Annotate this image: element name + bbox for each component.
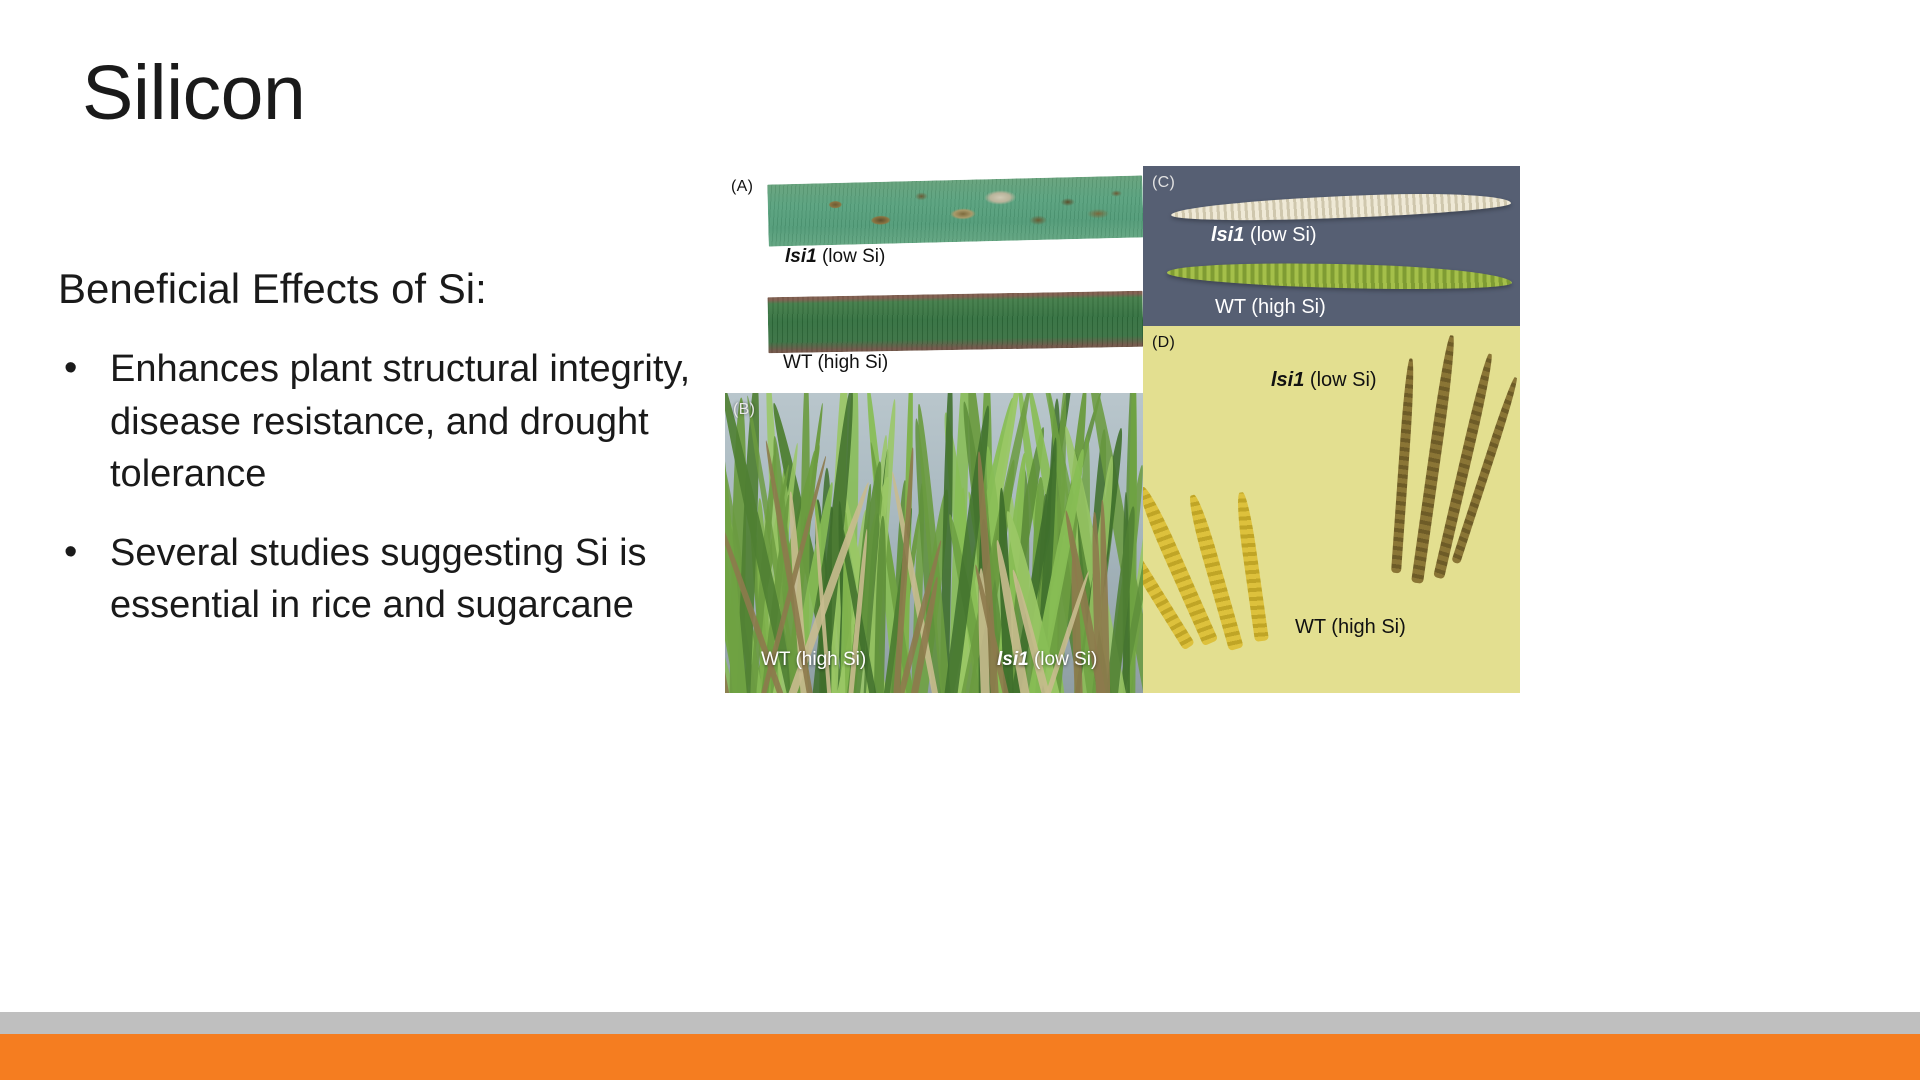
body-heading: Beneficial Effects of Si:	[58, 265, 718, 313]
condition-label: (low Si)	[1029, 649, 1098, 670]
genotype-label: lsi1	[997, 649, 1029, 670]
figure-panel-b: (B) WT (high Si) lsi1 (low Si)	[725, 393, 1143, 693]
genotype-label: lsi1	[1211, 224, 1244, 246]
bullet-marker-icon: •	[64, 342, 77, 394]
list-item: • Enhances plant structural integrity, d…	[58, 343, 718, 500]
diseased-leaf-image	[767, 175, 1143, 246]
panel-b-right-caption: lsi1 (low Si)	[997, 649, 1097, 671]
condition-label: (low Si)	[1244, 224, 1316, 246]
slide-canvas: Silicon Beneficial Effects of Si: • Enha…	[0, 0, 1920, 1080]
panel-c-top-caption: lsi1 (low Si)	[1211, 224, 1317, 247]
wt-panicle	[1234, 491, 1269, 641]
rice-field-photo	[725, 393, 1143, 693]
rice-silicon-figure: (A) lsi1 (low Si) WT (high Si) (B) WT (h…	[725, 166, 1520, 693]
bullet-list: • Enhances plant structural integrity, d…	[58, 343, 718, 631]
panel-b-left-caption: WT (high Si)	[761, 649, 866, 671]
figure-panel-a: (A) lsi1 (low Si) WT (high Si)	[725, 166, 1143, 388]
condition-label: (low Si)	[817, 246, 886, 267]
panel-a-diseased-caption: lsi1 (low Si)	[785, 246, 885, 268]
panel-d-top-caption: lsi1 (low Si)	[1271, 369, 1377, 392]
genotype-label: lsi1	[1271, 369, 1304, 391]
genotype-label: lsi1	[785, 246, 817, 267]
lsi1-panicle	[1391, 358, 1416, 573]
page-title: Silicon	[82, 55, 305, 132]
panel-a-healthy-caption: WT (high Si)	[783, 352, 888, 374]
figure-panel-c: (C) lsi1 (low Si) WT (high Si)	[1143, 166, 1520, 326]
panel-a-tag: (A)	[731, 178, 753, 196]
healthy-leaf-image	[768, 291, 1144, 354]
panel-b-tag: (B)	[733, 401, 755, 419]
figure-panel-d: (D) lsi1 (low Si) WT (high Si)	[1143, 326, 1520, 693]
bullet-marker-icon: •	[64, 526, 77, 578]
footer-gray-bar	[0, 1012, 1920, 1034]
bleached-panicle-image	[1171, 190, 1512, 224]
footer-accent-bar	[0, 1034, 1920, 1080]
green-panicle-image	[1167, 259, 1513, 292]
panel-c-tag: (C)	[1152, 174, 1175, 192]
list-item-text: Enhances plant structural integrity, dis…	[110, 348, 690, 495]
list-item-text: Several studies suggesting Si is essenti…	[110, 532, 647, 626]
panel-d-bottom-caption: WT (high Si)	[1295, 616, 1406, 639]
wt-panicle	[1185, 493, 1244, 651]
list-item: • Several studies suggesting Si is essen…	[58, 527, 718, 632]
panel-c-bottom-caption: WT (high Si)	[1215, 296, 1326, 319]
body-text-column: Beneficial Effects of Si: • Enhances pla…	[58, 265, 718, 657]
panel-d-tag: (D)	[1152, 334, 1175, 352]
condition-label: (low Si)	[1304, 369, 1376, 391]
